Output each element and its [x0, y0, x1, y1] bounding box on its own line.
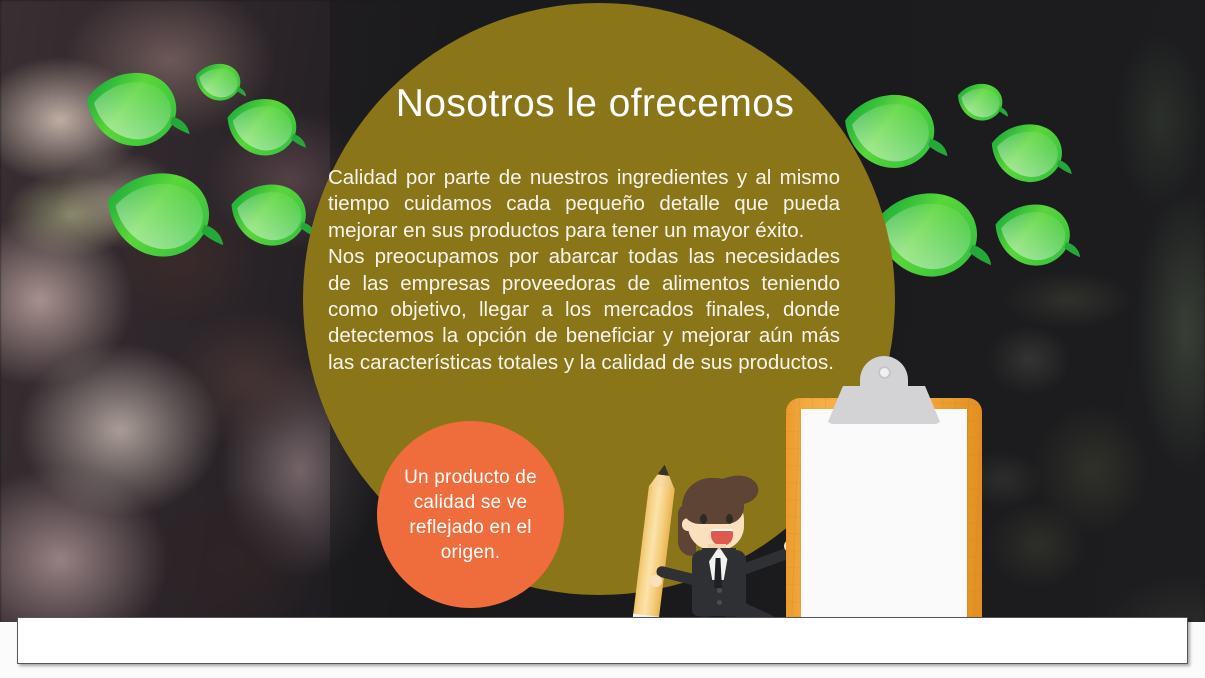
- pencil-lead-icon: [657, 464, 670, 476]
- character-suit-button-2: [717, 600, 722, 605]
- caption-bar[interactable]: [17, 617, 1188, 664]
- clipboard-illustration: [786, 354, 982, 636]
- body-copy: Calidad por parte de nuestros ingredient…: [328, 165, 840, 376]
- clipboard-paper: [801, 409, 967, 628]
- leaf-right-2-icon: [955, 78, 1010, 130]
- businessman-illustration: [666, 478, 786, 638]
- character-eye-right: [726, 514, 733, 524]
- body-paragraph-2: Nos preocupamos por abarcar todas las ne…: [328, 244, 840, 376]
- clipboard-clip-hole: [878, 366, 891, 379]
- character-eye-left: [700, 514, 707, 524]
- clipboard-clip-knob: [860, 356, 908, 402]
- page-title: Nosotros le ofrecemos: [330, 84, 860, 125]
- highlight-badge-text: Un producto de calidad se ve reflejado e…: [377, 465, 564, 565]
- character-hand-left: [650, 575, 662, 587]
- slide-canvas: Nosotros le ofrecemos Calidad por parte …: [0, 0, 1205, 678]
- body-paragraph-1: Calidad por parte de nuestros ingredient…: [328, 165, 840, 244]
- character-suit-button-1: [717, 588, 722, 593]
- highlight-badge: Un producto de calidad se ve reflejado e…: [377, 421, 564, 608]
